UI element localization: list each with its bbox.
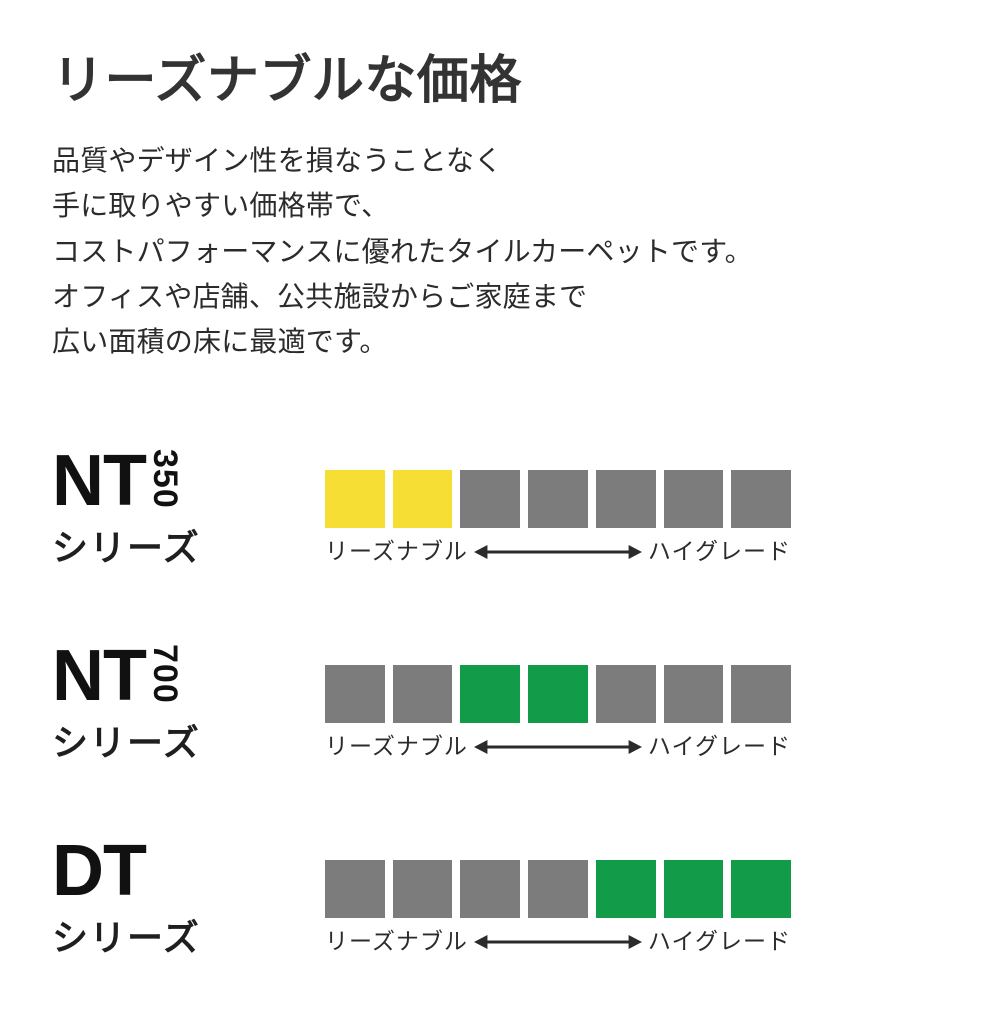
series-row-dt: DT シリーズ リーズナブル bbox=[0, 838, 1000, 1033]
page-title: リーズナブルな価格 bbox=[52, 52, 952, 112]
series-label-nt700: NT 700 シリーズ bbox=[52, 643, 302, 761]
swatch bbox=[393, 860, 453, 918]
series-code: DT bbox=[52, 838, 146, 904]
series-code: NT bbox=[52, 448, 146, 514]
double-arrow-icon bbox=[468, 543, 648, 561]
swatch bbox=[528, 665, 588, 723]
swatch bbox=[460, 860, 520, 918]
series-number: 700 bbox=[148, 644, 182, 720]
intro-line: 品質やデザイン性を損なうことなく bbox=[52, 138, 952, 183]
series-list: NT 350 シリーズ リーズナブル bbox=[0, 448, 1000, 1033]
series-scale-dt: リーズナブル ハイグレード bbox=[325, 860, 791, 953]
swatch bbox=[596, 665, 656, 723]
scale-high-label: ハイグレード bbox=[648, 930, 791, 953]
swatch bbox=[325, 665, 385, 723]
series-code-line: NT 700 bbox=[52, 643, 302, 715]
swatch bbox=[664, 860, 724, 918]
series-label-nt350: NT 350 シリーズ bbox=[52, 448, 302, 566]
series-label-dt: DT シリーズ bbox=[52, 838, 302, 956]
scale-high-label: ハイグレード bbox=[648, 540, 791, 563]
swatch bbox=[325, 860, 385, 918]
scale-high-label: ハイグレード bbox=[648, 735, 791, 758]
series-suffix: シリーズ bbox=[52, 530, 302, 566]
swatch bbox=[731, 665, 791, 723]
series-scale-nt700: リーズナブル ハイグレード bbox=[325, 665, 791, 758]
swatch bbox=[664, 665, 724, 723]
series-code: NT bbox=[52, 643, 146, 709]
intro-line: 手に取りやすい価格帯で、 bbox=[52, 183, 952, 228]
intro-body: 品質やデザイン性を損なうことなく 手に取りやすい価格帯で、 コストパフォーマンス… bbox=[52, 138, 952, 365]
swatch bbox=[460, 470, 520, 528]
swatch bbox=[460, 665, 520, 723]
scale-labels: リーズナブル ハイグレード bbox=[325, 735, 791, 758]
swatch bbox=[731, 470, 791, 528]
intro-line: 広い面積の床に最適です。 bbox=[52, 319, 952, 364]
series-suffix: シリーズ bbox=[52, 725, 302, 761]
swatch-strip bbox=[325, 860, 791, 918]
intro-line: オフィスや店舗、公共施設からご家庭まで bbox=[52, 274, 952, 319]
swatch bbox=[596, 860, 656, 918]
swatch bbox=[528, 470, 588, 528]
swatch bbox=[528, 860, 588, 918]
scale-low-label: リーズナブル bbox=[325, 735, 468, 758]
scale-labels: リーズナブル ハイグレード bbox=[325, 540, 791, 563]
scale-low-label: リーズナブル bbox=[325, 930, 468, 953]
double-arrow-icon bbox=[468, 933, 648, 951]
intro-line: コストパフォーマンスに優れたタイルカーペットです。 bbox=[52, 229, 952, 274]
scale-labels: リーズナブル ハイグレード bbox=[325, 930, 791, 953]
series-code-line: NT 350 bbox=[52, 448, 302, 520]
series-suffix: シリーズ bbox=[52, 920, 302, 956]
swatch bbox=[664, 470, 724, 528]
double-arrow-icon bbox=[468, 738, 648, 756]
series-row-nt700: NT 700 シリーズ リーズナブル bbox=[0, 643, 1000, 838]
swatch bbox=[596, 470, 656, 528]
series-code-line: DT bbox=[52, 838, 302, 910]
swatch bbox=[731, 860, 791, 918]
series-number: 350 bbox=[148, 449, 182, 525]
intro-block: リーズナブルな価格 品質やデザイン性を損なうことなく 手に取りやすい価格帯で、 … bbox=[52, 52, 952, 365]
page-root: リーズナブルな価格 品質やデザイン性を損なうことなく 手に取りやすい価格帯で、 … bbox=[0, 0, 1000, 1000]
swatch-strip bbox=[325, 470, 791, 528]
series-scale-nt350: リーズナブル ハイグレード bbox=[325, 470, 791, 563]
swatch bbox=[393, 470, 453, 528]
swatch bbox=[325, 470, 385, 528]
scale-low-label: リーズナブル bbox=[325, 540, 468, 563]
series-row-nt350: NT 350 シリーズ リーズナブル bbox=[0, 448, 1000, 643]
swatch bbox=[393, 665, 453, 723]
swatch-strip bbox=[325, 665, 791, 723]
